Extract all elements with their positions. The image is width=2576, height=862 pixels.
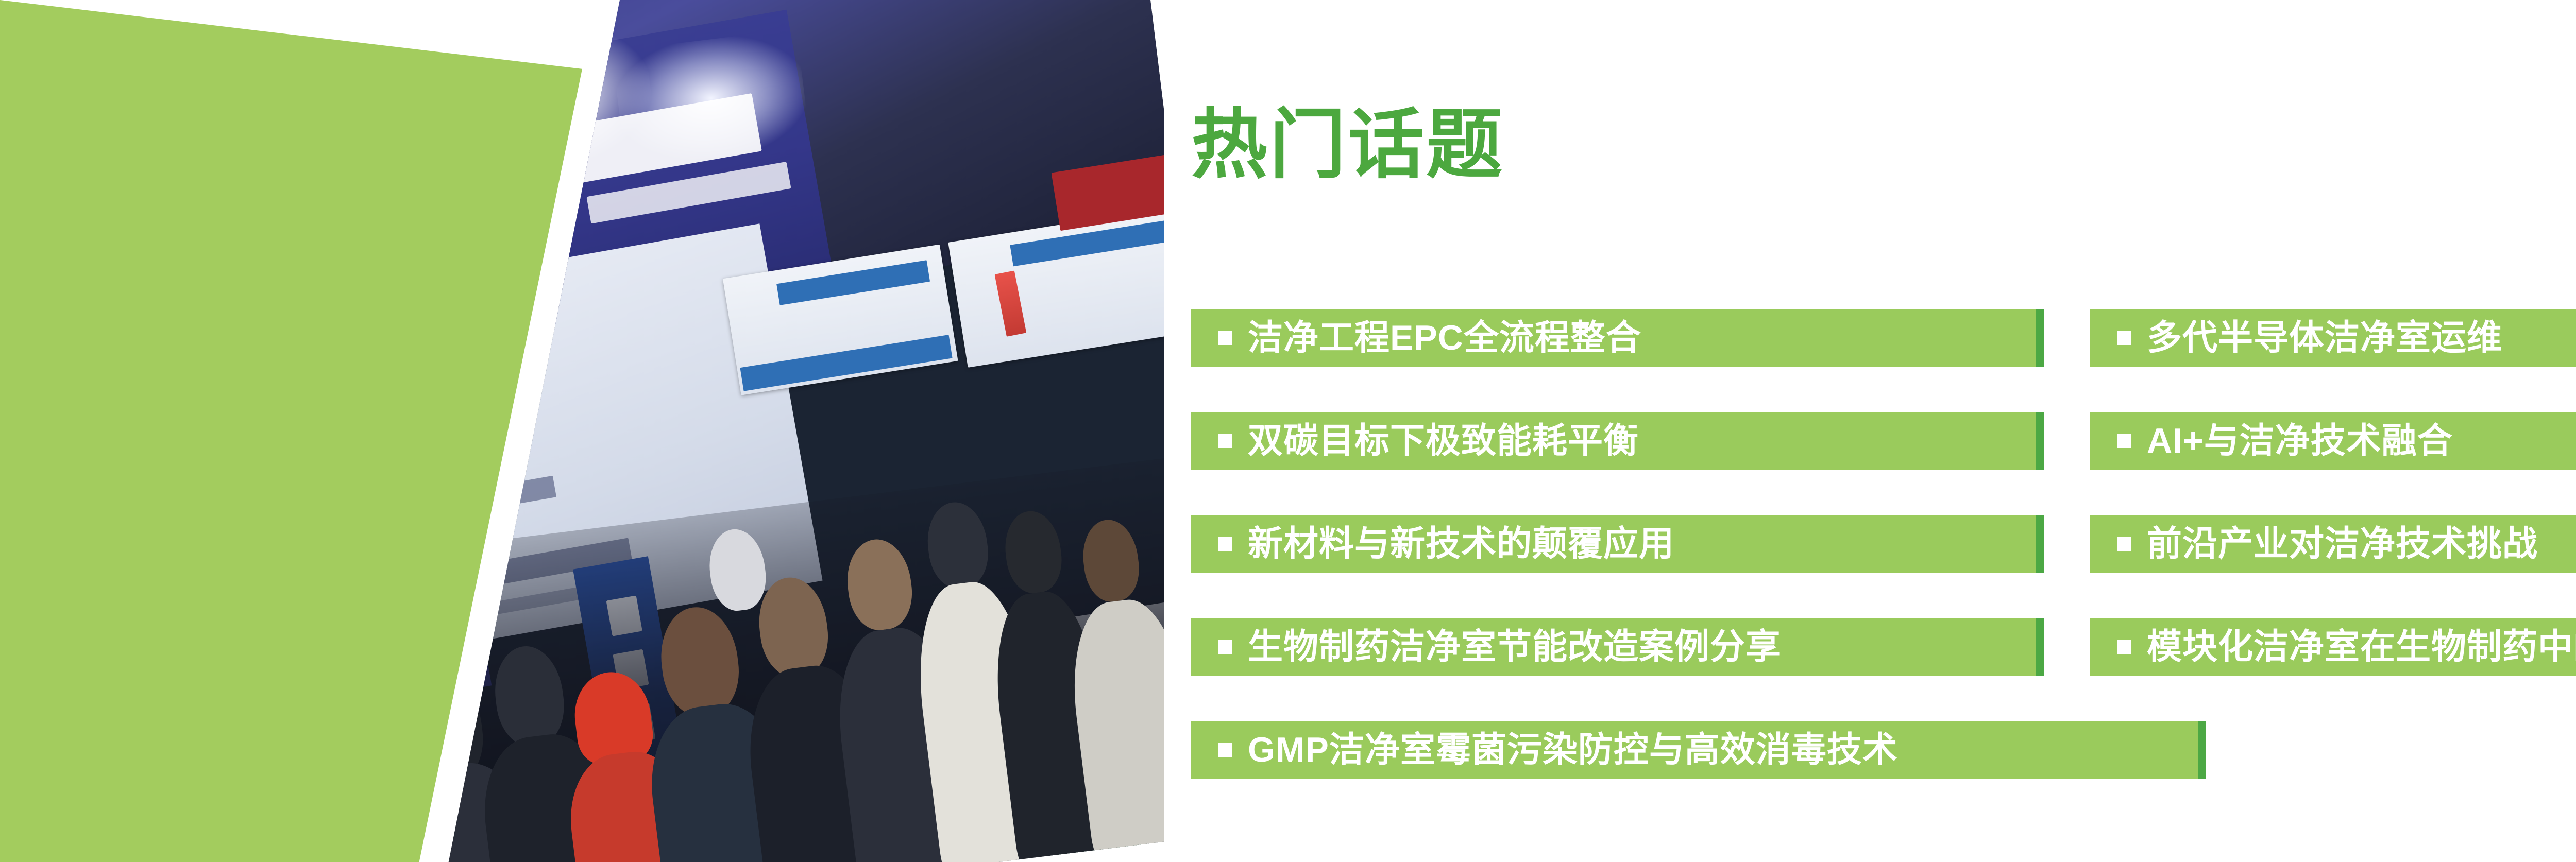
topic-button[interactable]: 模块化洁净室在生物制药中的应用 <box>2090 618 2576 676</box>
topic-label: 模块化洁净室在生物制药中的应用 <box>2147 629 2576 664</box>
topic-label: 洁净工程EPC全流程整合 <box>1248 320 1641 355</box>
square-bullet-icon <box>2117 640 2131 654</box>
topic-button[interactable]: 双碳目标下极致能耗平衡 <box>1191 412 2044 470</box>
square-bullet-icon <box>1218 743 1232 757</box>
page-title: 热门话题 <box>1191 107 1504 183</box>
topic-button[interactable]: 前沿产业对洁净技术挑战 <box>2090 515 2576 573</box>
topic-label: 双碳目标下极致能耗平衡 <box>1248 423 1639 458</box>
square-bullet-icon <box>1218 640 1232 654</box>
square-bullet-icon <box>1218 537 1232 551</box>
topic-label: 新材料与新技术的颠覆应用 <box>1248 526 1674 561</box>
topic-label: 多代半导体洁净室运维 <box>2147 320 2502 355</box>
topic-button[interactable]: 洁净工程EPC全流程整合 <box>1191 309 2044 367</box>
topic-grid: 洁净工程EPC全流程整合多代半导体洁净室运维双碳目标下极致能耗平衡AI+与洁净技… <box>1191 309 2576 824</box>
poster-canvas: 热门话题 洁净工程EPC全流程整合多代半导体洁净室运维双碳目标下极致能耗平衡AI… <box>0 0 2576 862</box>
topic-button[interactable]: 新材料与新技术的颠覆应用 <box>1191 515 2044 573</box>
topic-label: GMP洁净室霉菌污染防控与高效消毒技术 <box>1248 732 1898 767</box>
topic-label: 生物制药洁净室节能改造案例分享 <box>1248 629 1781 664</box>
square-bullet-icon <box>2117 537 2131 551</box>
topic-button[interactable]: 多代半导体洁净室运维 <box>2090 309 2576 367</box>
square-bullet-icon <box>2117 434 2131 448</box>
topic-button[interactable]: AI+与洁净技术融合 <box>2090 412 2576 470</box>
square-bullet-icon <box>1218 434 1232 448</box>
topic-label: 前沿产业对洁净技术挑战 <box>2147 526 2538 561</box>
square-bullet-icon <box>2117 331 2131 345</box>
topic-button[interactable]: GMP洁净室霉菌污染防控与高效消毒技术 <box>1191 721 2206 779</box>
topic-row: 生物制药洁净室节能改造案例分享模块化洁净室在生物制药中的应用 <box>1191 618 2576 676</box>
topic-row: GMP洁净室霉菌污染防控与高效消毒技术 <box>1191 721 2576 779</box>
left-artwork-panel <box>0 0 1164 862</box>
square-bullet-icon <box>1218 331 1232 345</box>
topic-row: 双碳目标下极致能耗平衡AI+与洁净技术融合 <box>1191 412 2576 470</box>
topic-row: 洁净工程EPC全流程整合多代半导体洁净室运维 <box>1191 309 2576 367</box>
topics-section: 热门话题 洁净工程EPC全流程整合多代半导体洁净室运维双碳目标下极致能耗平衡AI… <box>1191 0 2576 862</box>
topic-label: AI+与洁净技术融合 <box>2147 423 2453 458</box>
topic-row: 新材料与新技术的颠覆应用前沿产业对洁净技术挑战 <box>1191 515 2576 573</box>
topic-button[interactable]: 生物制药洁净室节能改造案例分享 <box>1191 618 2044 676</box>
